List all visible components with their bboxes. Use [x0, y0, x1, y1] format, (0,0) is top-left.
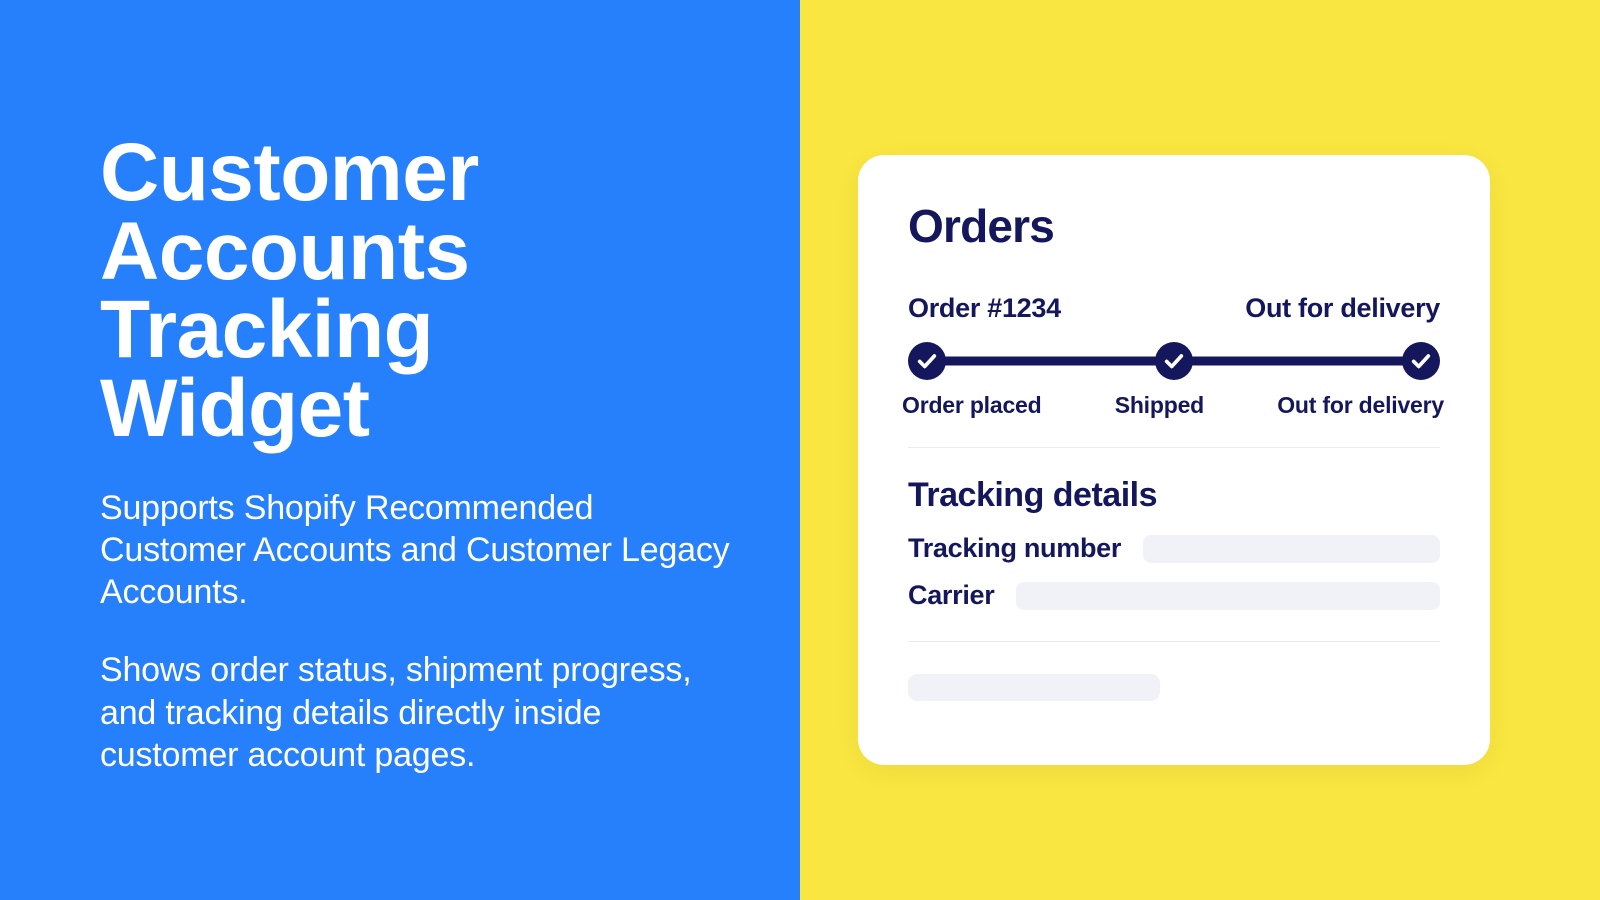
- right-preview-panel: Orders Order #1234 Out for delivery: [800, 0, 1600, 900]
- tracking-number-value-placeholder: [1143, 535, 1440, 563]
- marketing-copy: Customer Accounts Tracking Widget Suppor…: [100, 134, 760, 776]
- tracking-number-label: Tracking number: [908, 533, 1121, 564]
- tracking-number-row: Tracking number: [908, 533, 1440, 564]
- carrier-row: Carrier: [908, 580, 1440, 611]
- left-marketing-panel: Customer Accounts Tracking Widget Suppor…: [0, 0, 800, 900]
- tracker-nodes: [908, 340, 1440, 382]
- footer-divider: [908, 641, 1440, 642]
- orders-card-title: Orders: [908, 203, 1440, 249]
- tracker-step-order-placed[interactable]: [908, 342, 946, 380]
- tracker-label-order-placed: Order placed: [902, 392, 1042, 419]
- carrier-label: Carrier: [908, 580, 994, 611]
- tracker-label-shipped: Shipped: [1115, 392, 1204, 419]
- order-summary-row: Order #1234 Out for delivery: [908, 293, 1440, 324]
- orders-card: Orders Order #1234 Out for delivery: [858, 155, 1490, 765]
- check-icon: [1163, 350, 1185, 372]
- tracker-label-out-for-delivery: Out for delivery: [1277, 392, 1444, 419]
- status-badge: Out for delivery: [1245, 293, 1440, 324]
- tracking-details-title: Tracking details: [908, 476, 1440, 515]
- tracker-step-shipped[interactable]: [1155, 342, 1193, 380]
- feature-paragraph-1: Supports Shopify Recommended Customer Ac…: [100, 487, 740, 613]
- section-divider: [908, 447, 1440, 448]
- footer-placeholder: [908, 674, 1160, 701]
- check-icon: [1410, 350, 1432, 372]
- page-title: Customer Accounts Tracking Widget: [100, 134, 620, 449]
- promo-banner: Customer Accounts Tracking Widget Suppor…: [0, 0, 1600, 900]
- feature-paragraph-2: Shows order status, shipment progress, a…: [100, 649, 740, 775]
- check-icon: [916, 350, 938, 372]
- tracker-step-out-for-delivery[interactable]: [1402, 342, 1440, 380]
- shipment-progress-tracker: [908, 340, 1440, 382]
- order-number: Order #1234: [908, 293, 1061, 324]
- carrier-value-placeholder: [1016, 582, 1440, 610]
- tracker-labels: Order placed Shipped Out for delivery: [908, 392, 1440, 419]
